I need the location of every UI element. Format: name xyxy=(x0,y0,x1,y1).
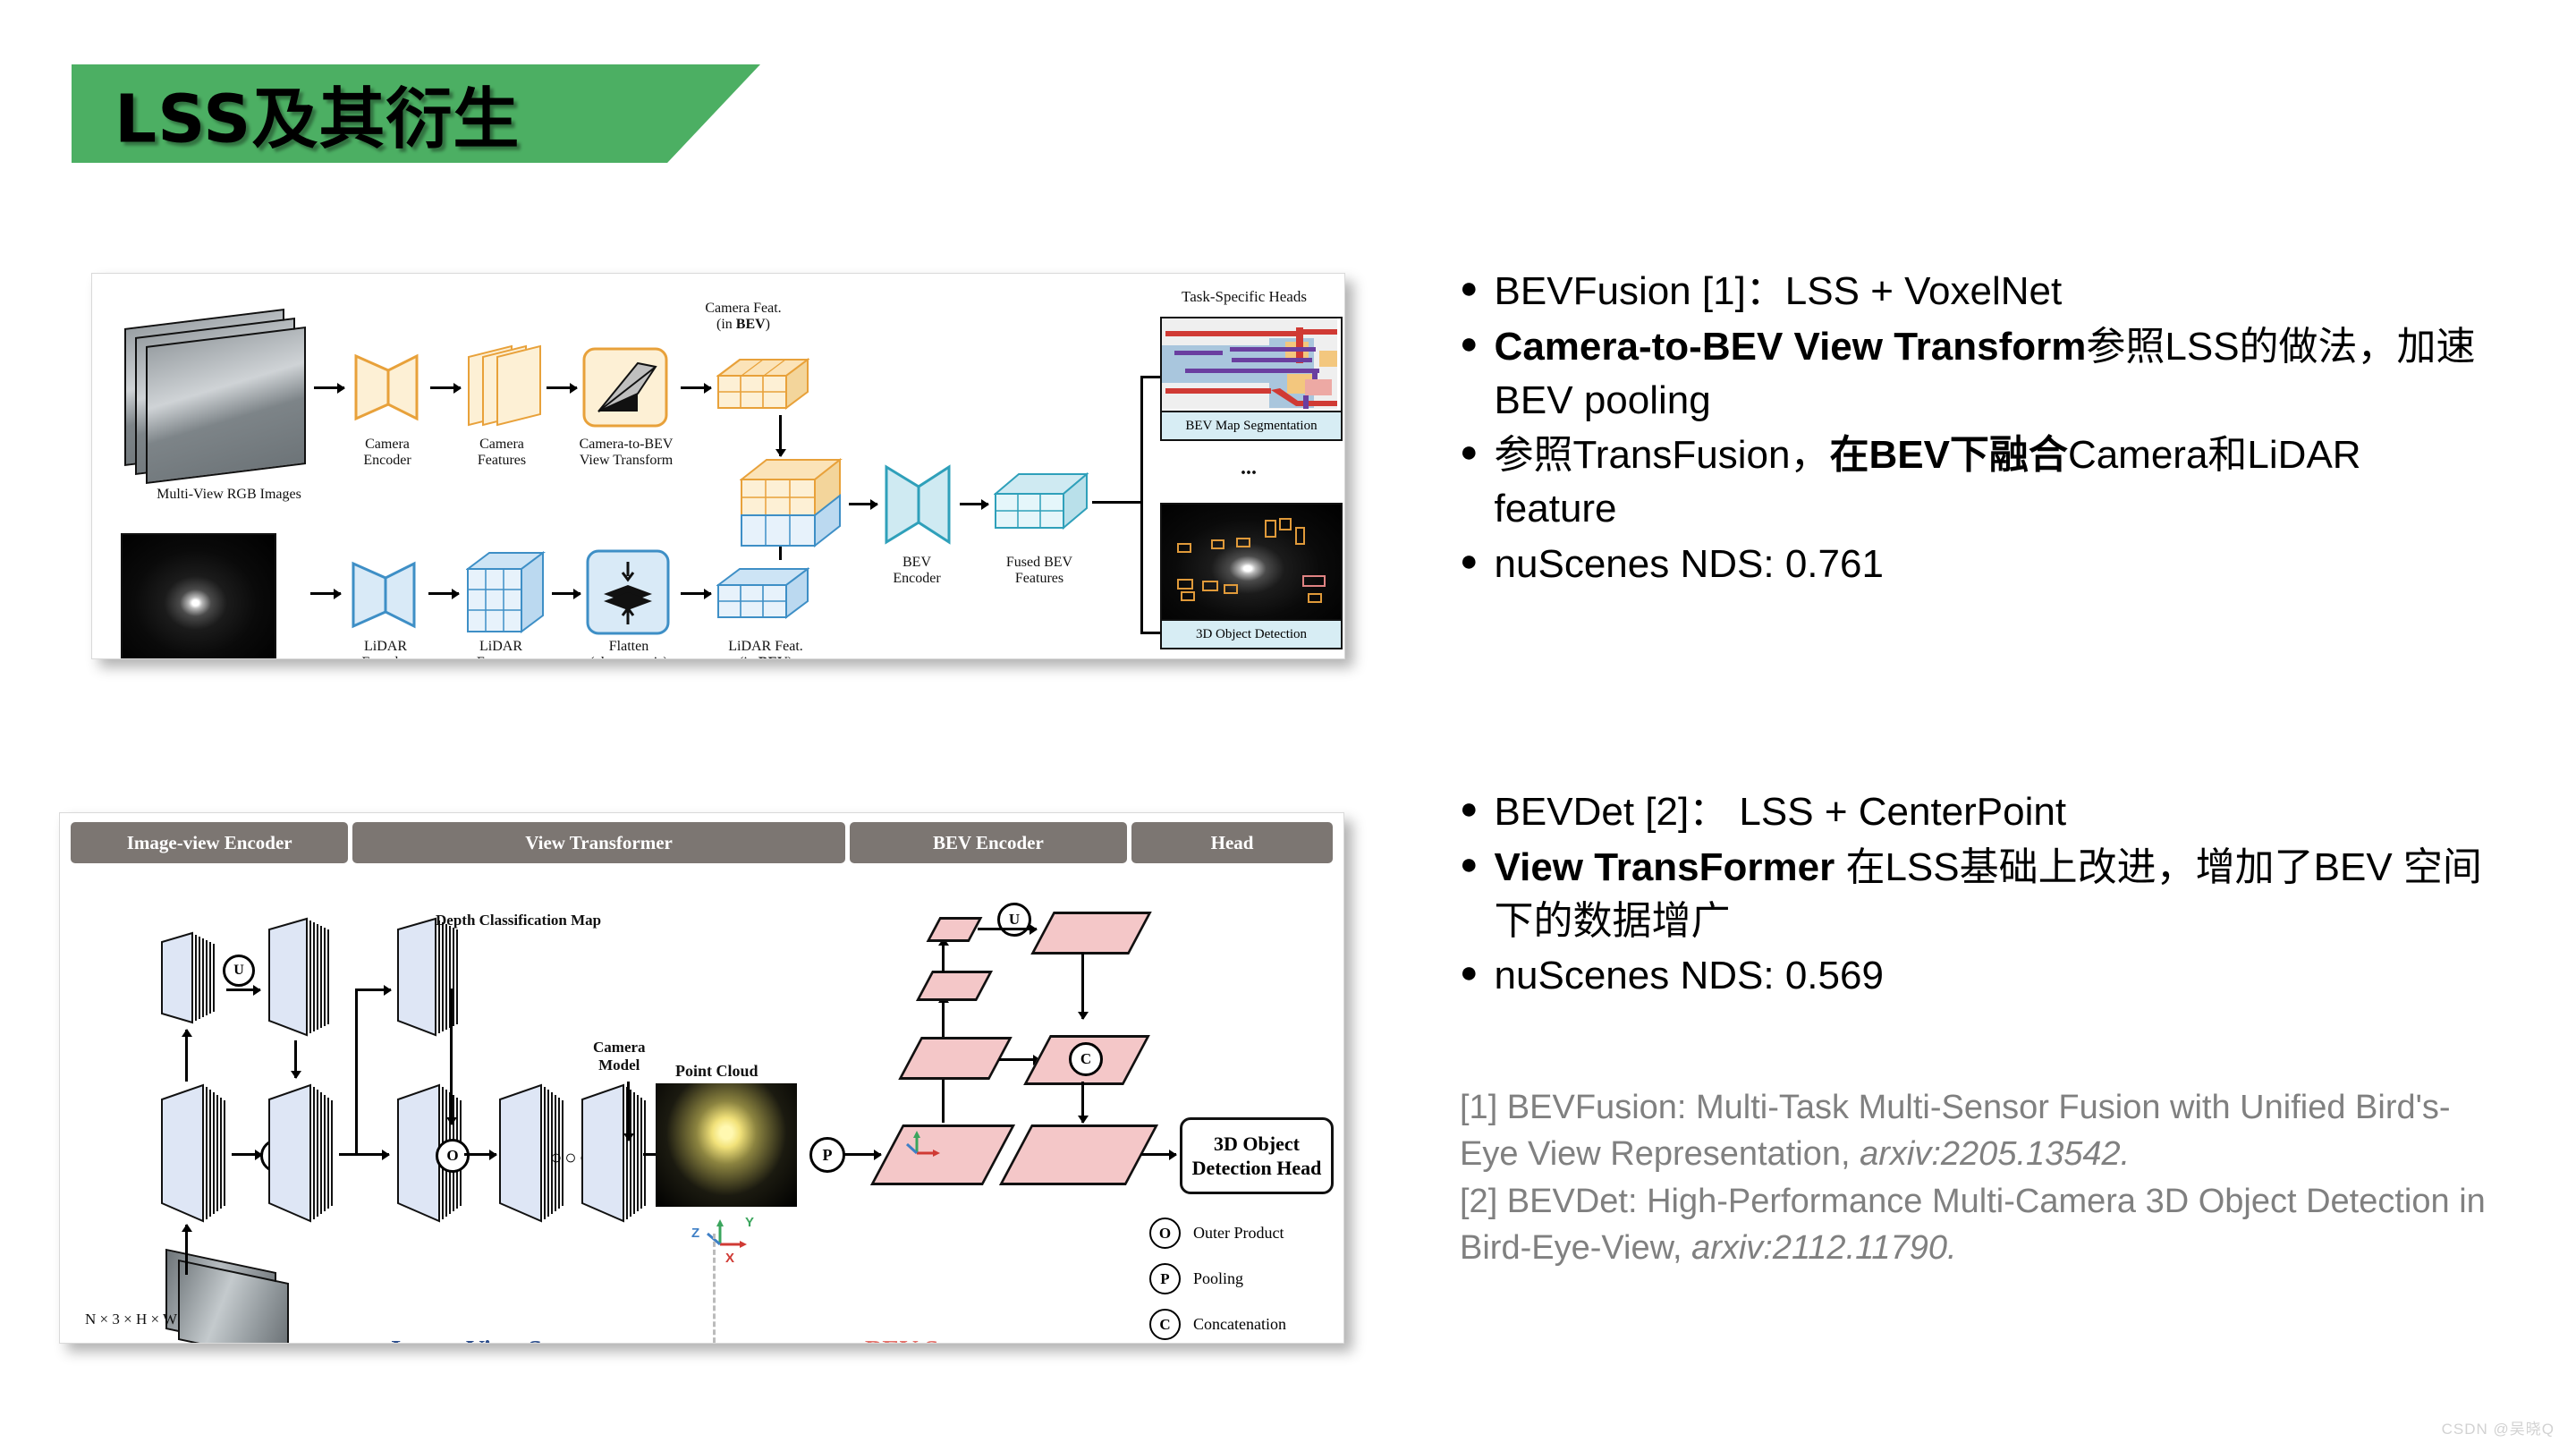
bullet-dot-icon: ● xyxy=(1460,785,1479,833)
caption-multiview-rgb: Multi-View RGB Images xyxy=(117,487,341,503)
svg-text:Z: Z xyxy=(691,1226,699,1241)
bevdet-stage-header: Image-view Encoder View Transformer BEV … xyxy=(71,822,1333,863)
title-banner: LSS及其衍生 xyxy=(72,64,760,163)
heads-ellipsis: ... xyxy=(1199,456,1298,480)
axis-indicator-bev xyxy=(904,1128,945,1162)
references-list: [1] BEVFusion: Multi-Task Multi-Sensor F… xyxy=(1460,1084,2497,1272)
feature-stack-c xyxy=(157,1082,233,1229)
bullet-text: 参照TransFusion，在BEV下融合Camera和LiDAR featur… xyxy=(1495,429,2488,536)
bullet-text: View TransFormer 在LSS基础上改进，增加了BEV 空间下的数据… xyxy=(1495,841,2497,948)
legend-item-outer-product: O Outer Product xyxy=(1149,1218,1286,1249)
bullet-text: Camera-to-BEV View Transform参照LSS的做法，加速B… xyxy=(1495,320,2488,428)
bev-plane-upsampled xyxy=(1030,912,1152,955)
bullet-dot-icon: ● xyxy=(1460,841,1479,888)
bev-plane-mid xyxy=(898,1037,1013,1080)
caption-bev-encoder: BEVEncoder xyxy=(863,555,970,587)
watermark: CSDN @吴晓Q xyxy=(2442,1416,2555,1438)
pooling-icon: P xyxy=(1149,1263,1181,1294)
svg-text:Y: Y xyxy=(745,1215,754,1230)
bullet-item: ●参照TransFusion，在BEV下融合Camera和LiDAR featu… xyxy=(1460,429,2488,536)
head-label-bev-map-segmentation: BEV Map Segmentation xyxy=(1162,411,1341,439)
camera-bev-cube-icon xyxy=(716,356,809,416)
head-3d-object-detection: 3D Object Detection xyxy=(1160,503,1343,649)
feature-stack-a xyxy=(157,928,221,1031)
bullet-text: BEVFusion [1]：LSS + VoxelNet xyxy=(1495,265,2488,318)
bullet-item: ●BEVFusion [1]：LSS + VoxelNet xyxy=(1460,265,2488,318)
label-camera-model: CameraModel xyxy=(593,1039,646,1073)
bullet-dot-icon: ● xyxy=(1460,320,1479,368)
stage-view-transformer: View Transformer xyxy=(352,822,844,863)
space-divider xyxy=(713,1234,716,1344)
lidar-features-cube-icon xyxy=(466,549,547,640)
fused-feature-stack-icon xyxy=(740,456,843,559)
legend-label-pooling: Pooling xyxy=(1193,1269,1243,1288)
figure-bevfusion: Multi-View RGB Images CameraEncoder Came… xyxy=(91,273,1345,659)
page-title: LSS及其衍生 xyxy=(114,66,520,162)
figure-bevdet: Image-view Encoder View Transformer BEV … xyxy=(59,812,1344,1344)
bullets-bevdet: ●BEVDet [2]： LSS + CenterPoint ●View Tra… xyxy=(1460,785,2497,1005)
head-box-label: 3D ObjectDetection Head xyxy=(1192,1132,1322,1181)
caption-flatten: Flatten(along z-axis) xyxy=(566,639,691,659)
stage-head: Head xyxy=(1131,822,1333,863)
legend-item-concatenation: C Concatenation xyxy=(1149,1309,1286,1340)
bullet-dot-icon: ● xyxy=(1460,538,1479,585)
stage-image-view-encoder: Image-view Encoder xyxy=(71,822,348,863)
label-point-cloud: Point Cloud xyxy=(675,1062,758,1081)
feature-stack-b xyxy=(264,913,335,1043)
caption-camera-encoder: CameraEncoder xyxy=(330,437,445,469)
bullet-text: nuScenes NDS: 0.761 xyxy=(1495,538,2488,591)
pooling-op: P xyxy=(809,1137,845,1173)
point-cloud-image xyxy=(656,1083,797,1207)
caption-task-specific-heads: Task-Specific Heads xyxy=(1137,288,1345,305)
bullet-item: ●Camera-to-BEV View Transform参照LSS的做法，加速… xyxy=(1460,320,2488,428)
up-sampling-op-2: U xyxy=(997,903,1031,937)
bullet-item: ●nuScenes NDS: 0.569 xyxy=(1460,949,2497,1003)
fused-bev-features-cube-icon xyxy=(994,471,1089,538)
bullet-dot-icon: ● xyxy=(1460,265,1479,312)
bev-plane-small xyxy=(916,971,993,1001)
bev-plane-tiny xyxy=(927,917,983,942)
head-bev-map-segmentation: BEV Map Segmentation xyxy=(1160,317,1343,441)
legend-item-pooling: P Pooling xyxy=(1149,1263,1286,1294)
outer-product-icon: O xyxy=(1149,1218,1181,1249)
caption-fused-bev-features: Fused BEVFeatures xyxy=(974,555,1105,587)
reference-item: [2] BEVDet: High-Performance Multi-Camer… xyxy=(1460,1178,2497,1272)
caption-camera-features: CameraFeatures xyxy=(444,437,560,469)
camera-encoder-icon xyxy=(352,352,420,422)
concatenation-op-2: C xyxy=(1069,1042,1103,1076)
caption-lidar-features: LiDARFeatures xyxy=(444,639,558,659)
bullet-text: nuScenes NDS: 0.569 xyxy=(1495,949,2497,1003)
bev-encoder-icon xyxy=(883,463,953,546)
lidar-encoder-icon xyxy=(350,560,418,630)
caption-camera-feat-bev: Camera Feat.(in BEV) xyxy=(654,301,833,333)
legend-label-outer-product: Outer Product xyxy=(1193,1224,1284,1243)
caption-lidar-feat-bev: LiDAR Feat.(in BEV) xyxy=(690,639,842,659)
label-input-shape: N × 3 × H × W xyxy=(85,1311,177,1328)
outer-product-op: O xyxy=(436,1139,470,1173)
bevdet-legend: O Outer Product P Pooling C Concatenatio… xyxy=(1149,1218,1286,1344)
svg-text:X: X xyxy=(725,1251,734,1264)
depth-map-stack xyxy=(393,913,464,1043)
bullet-item: ●View TransFormer 在LSS基础上改进，增加了BEV 空间下的数… xyxy=(1460,841,2497,948)
bullet-item: ●BEVDet [2]： LSS + CenterPoint xyxy=(1460,785,2497,839)
feature-stack-d xyxy=(264,1082,341,1229)
bev-plane-final xyxy=(999,1124,1158,1185)
concatenation-icon: C xyxy=(1149,1309,1181,1340)
reference-item: [1] BEVFusion: Multi-Task Multi-Sensor F… xyxy=(1460,1084,2497,1178)
caption-camera-to-bev: Camera-to-BEVView Transform xyxy=(559,437,693,469)
lidar-point-cloud-image xyxy=(121,533,276,659)
stage-bev-encoder: BEV Encoder xyxy=(850,822,1127,863)
bullet-text: BEVDet [2]： LSS + CenterPoint xyxy=(1495,785,2497,839)
axis-indicator-pointcloud: Z Y X xyxy=(686,1214,775,1264)
head-label-3d-object-detection: 3D Object Detection xyxy=(1162,619,1341,648)
up-sampling-op-1: U xyxy=(223,955,255,987)
bullets-bevfusion: ●BEVFusion [1]：LSS + VoxelNet ●Camera-to… xyxy=(1460,265,2488,593)
bullet-dot-icon: ● xyxy=(1460,949,1479,997)
legend-label-concatenation: Concatenation xyxy=(1193,1315,1286,1334)
flatten-icon xyxy=(586,549,670,635)
bullet-dot-icon: ● xyxy=(1460,429,1479,476)
camera-to-bev-transform-icon xyxy=(582,347,668,428)
lidar-bev-cube-icon xyxy=(716,565,809,625)
label-image-view-space: Image View Space xyxy=(391,1336,593,1344)
caption-lidar-encoder: LiDAREncoder xyxy=(328,639,443,659)
3d-object-detection-head-box: 3D ObjectDetection Head xyxy=(1180,1117,1334,1194)
bullet-item: ●nuScenes NDS: 0.761 xyxy=(1460,538,2488,591)
label-bev-space: BEV Space xyxy=(865,1336,989,1344)
